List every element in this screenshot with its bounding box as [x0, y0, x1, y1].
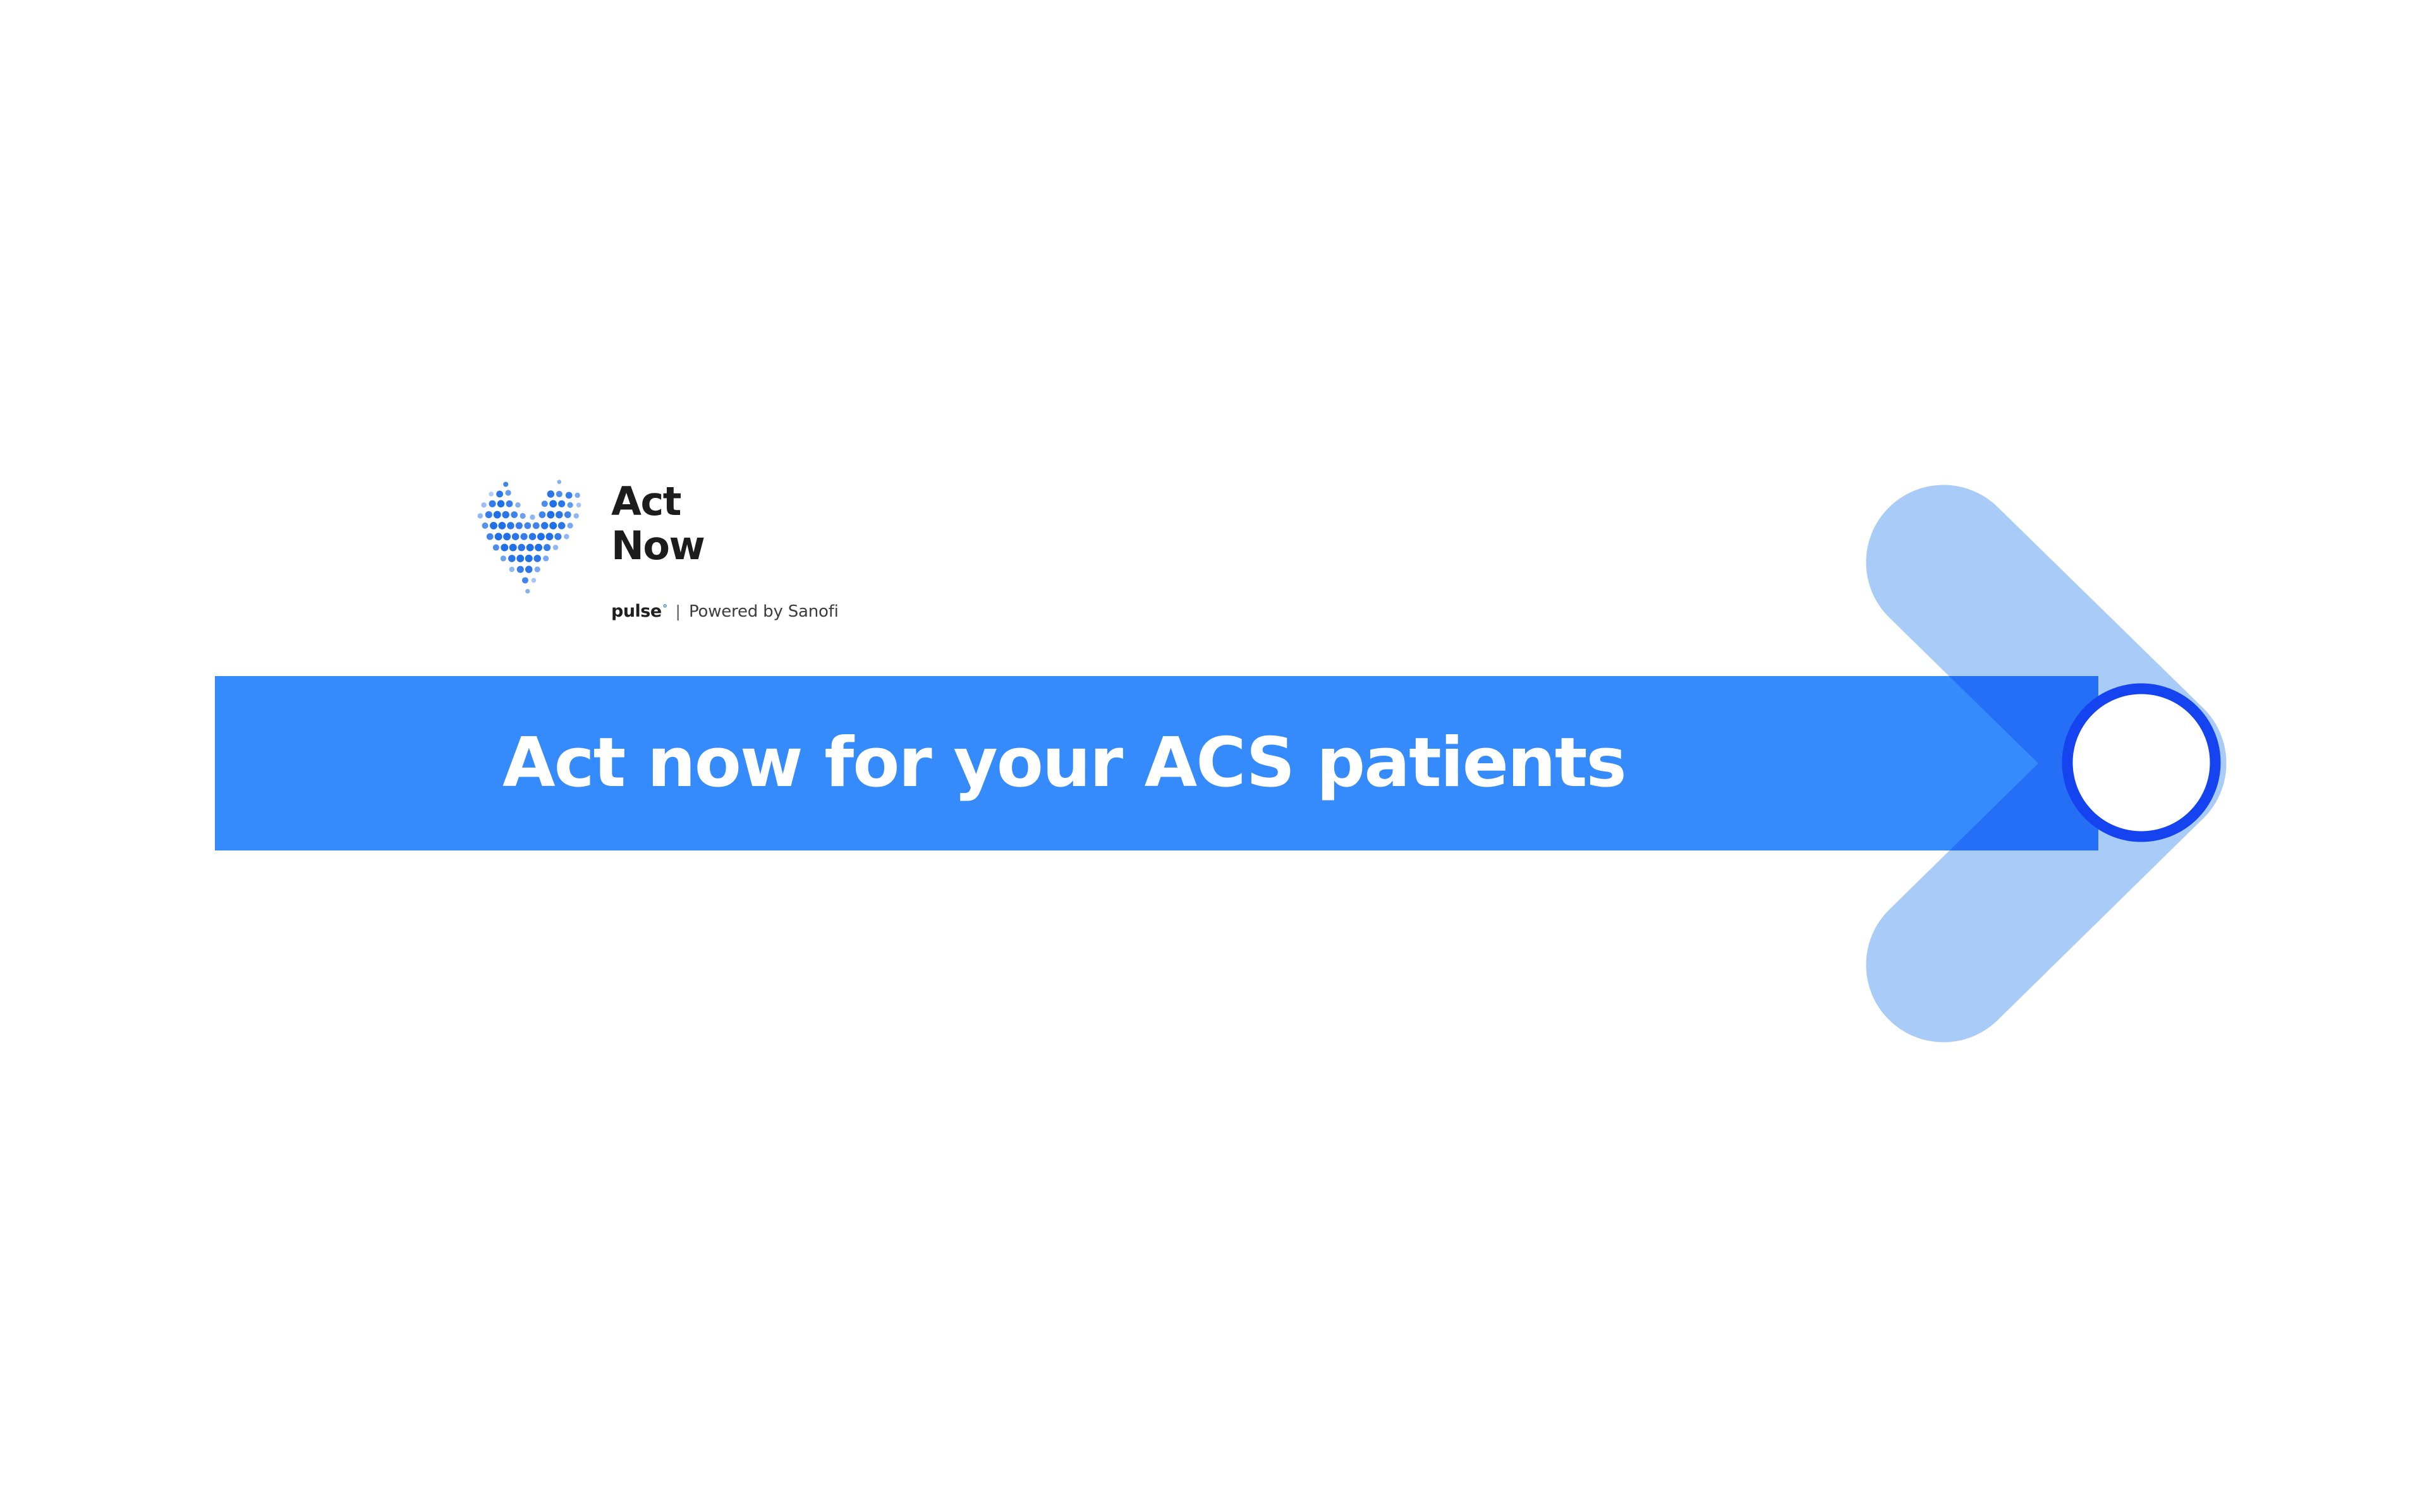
act-now-logo-lockup[interactable]: Act Now pulse ° | Powered by Sanofi — [471, 477, 1052, 648]
banner-headline: Act now for your ACS patients — [215, 676, 2098, 850]
dotted-heart-icon — [471, 477, 594, 603]
banner-canvas: Act Now pulse ° | Powered by Sanofi — [0, 0, 2427, 1512]
logo-tagline: pulse ° | Powered by Sanofi — [611, 602, 839, 624]
tagline-separator: | — [676, 602, 681, 621]
tagline-brand-superscript: ° — [663, 603, 667, 614]
logo-wordmark: Act Now — [611, 482, 877, 565]
logo-wordmark-line-act: Act — [611, 482, 877, 521]
logo-wordmark-line-now: Now — [611, 526, 877, 565]
tagline-brand-pulse: pulse — [611, 602, 662, 621]
tagline-attribution: Powered by Sanofi — [689, 602, 839, 621]
